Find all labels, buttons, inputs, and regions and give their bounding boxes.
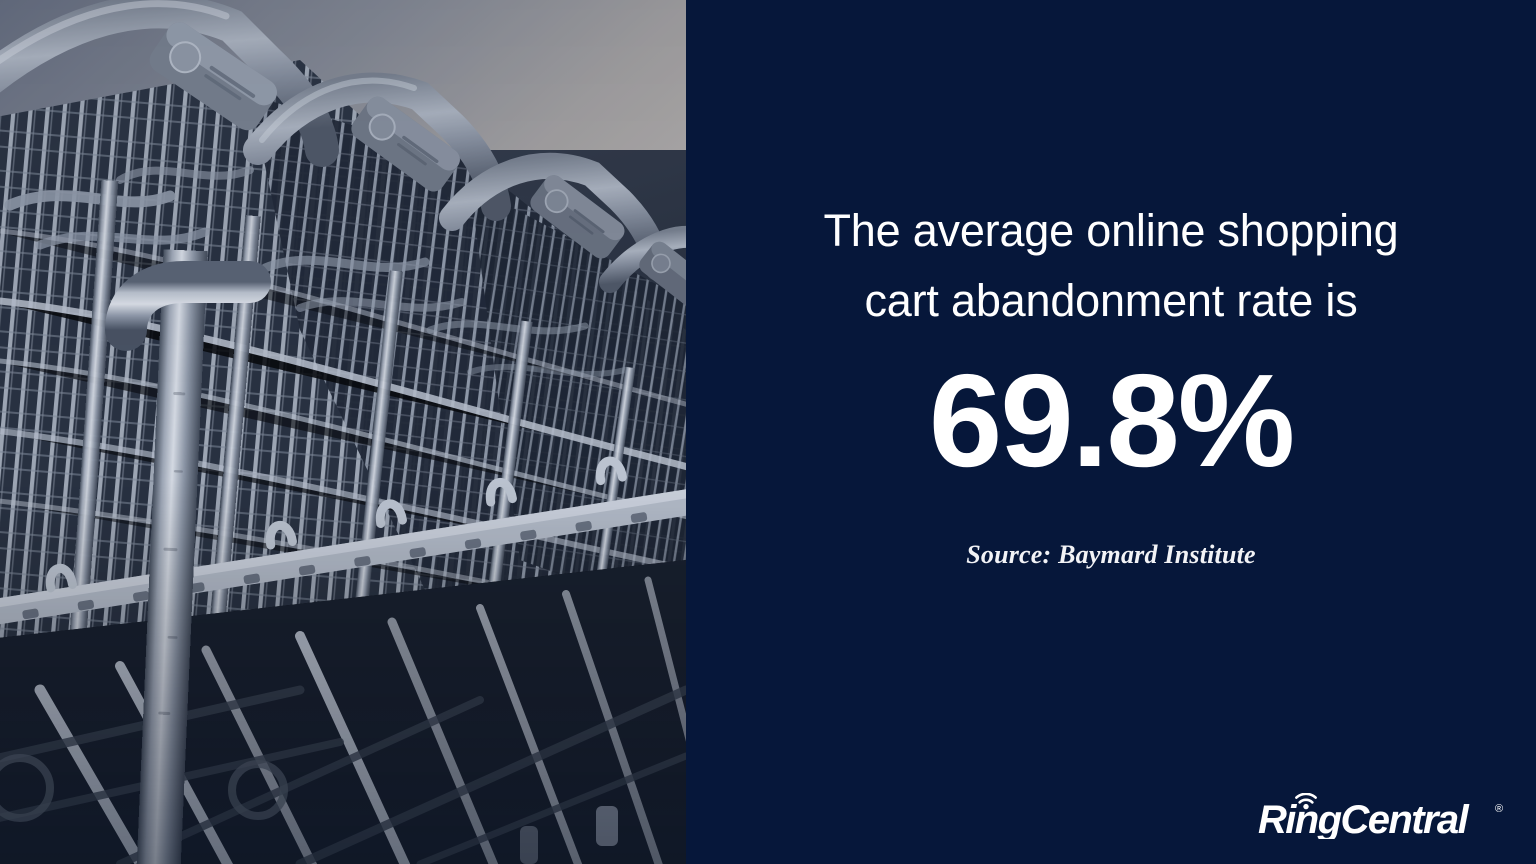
shopping-carts-photo [0,0,686,864]
logo-text: RingCentral [1258,798,1470,839]
registered-trademark-icon: ® [1495,803,1503,815]
content-panel: The average online shopping cart abandon… [686,0,1536,864]
source-attribution: Source: Baymard Institute [686,540,1536,570]
ringcentral-logo: RingCentral ® [1258,793,1512,839]
headline-line-2: cart abandonment rate is [686,266,1536,336]
ringcentral-wordmark: RingCentral ® [1258,793,1512,839]
headline-line-1: The average online shopping [686,196,1536,266]
shopping-carts-illustration [0,0,686,864]
stat-card: The average online shopping cart abandon… [0,0,1536,864]
headline: The average online shopping cart abandon… [686,196,1536,336]
stat-value: 69.8% [686,356,1536,486]
